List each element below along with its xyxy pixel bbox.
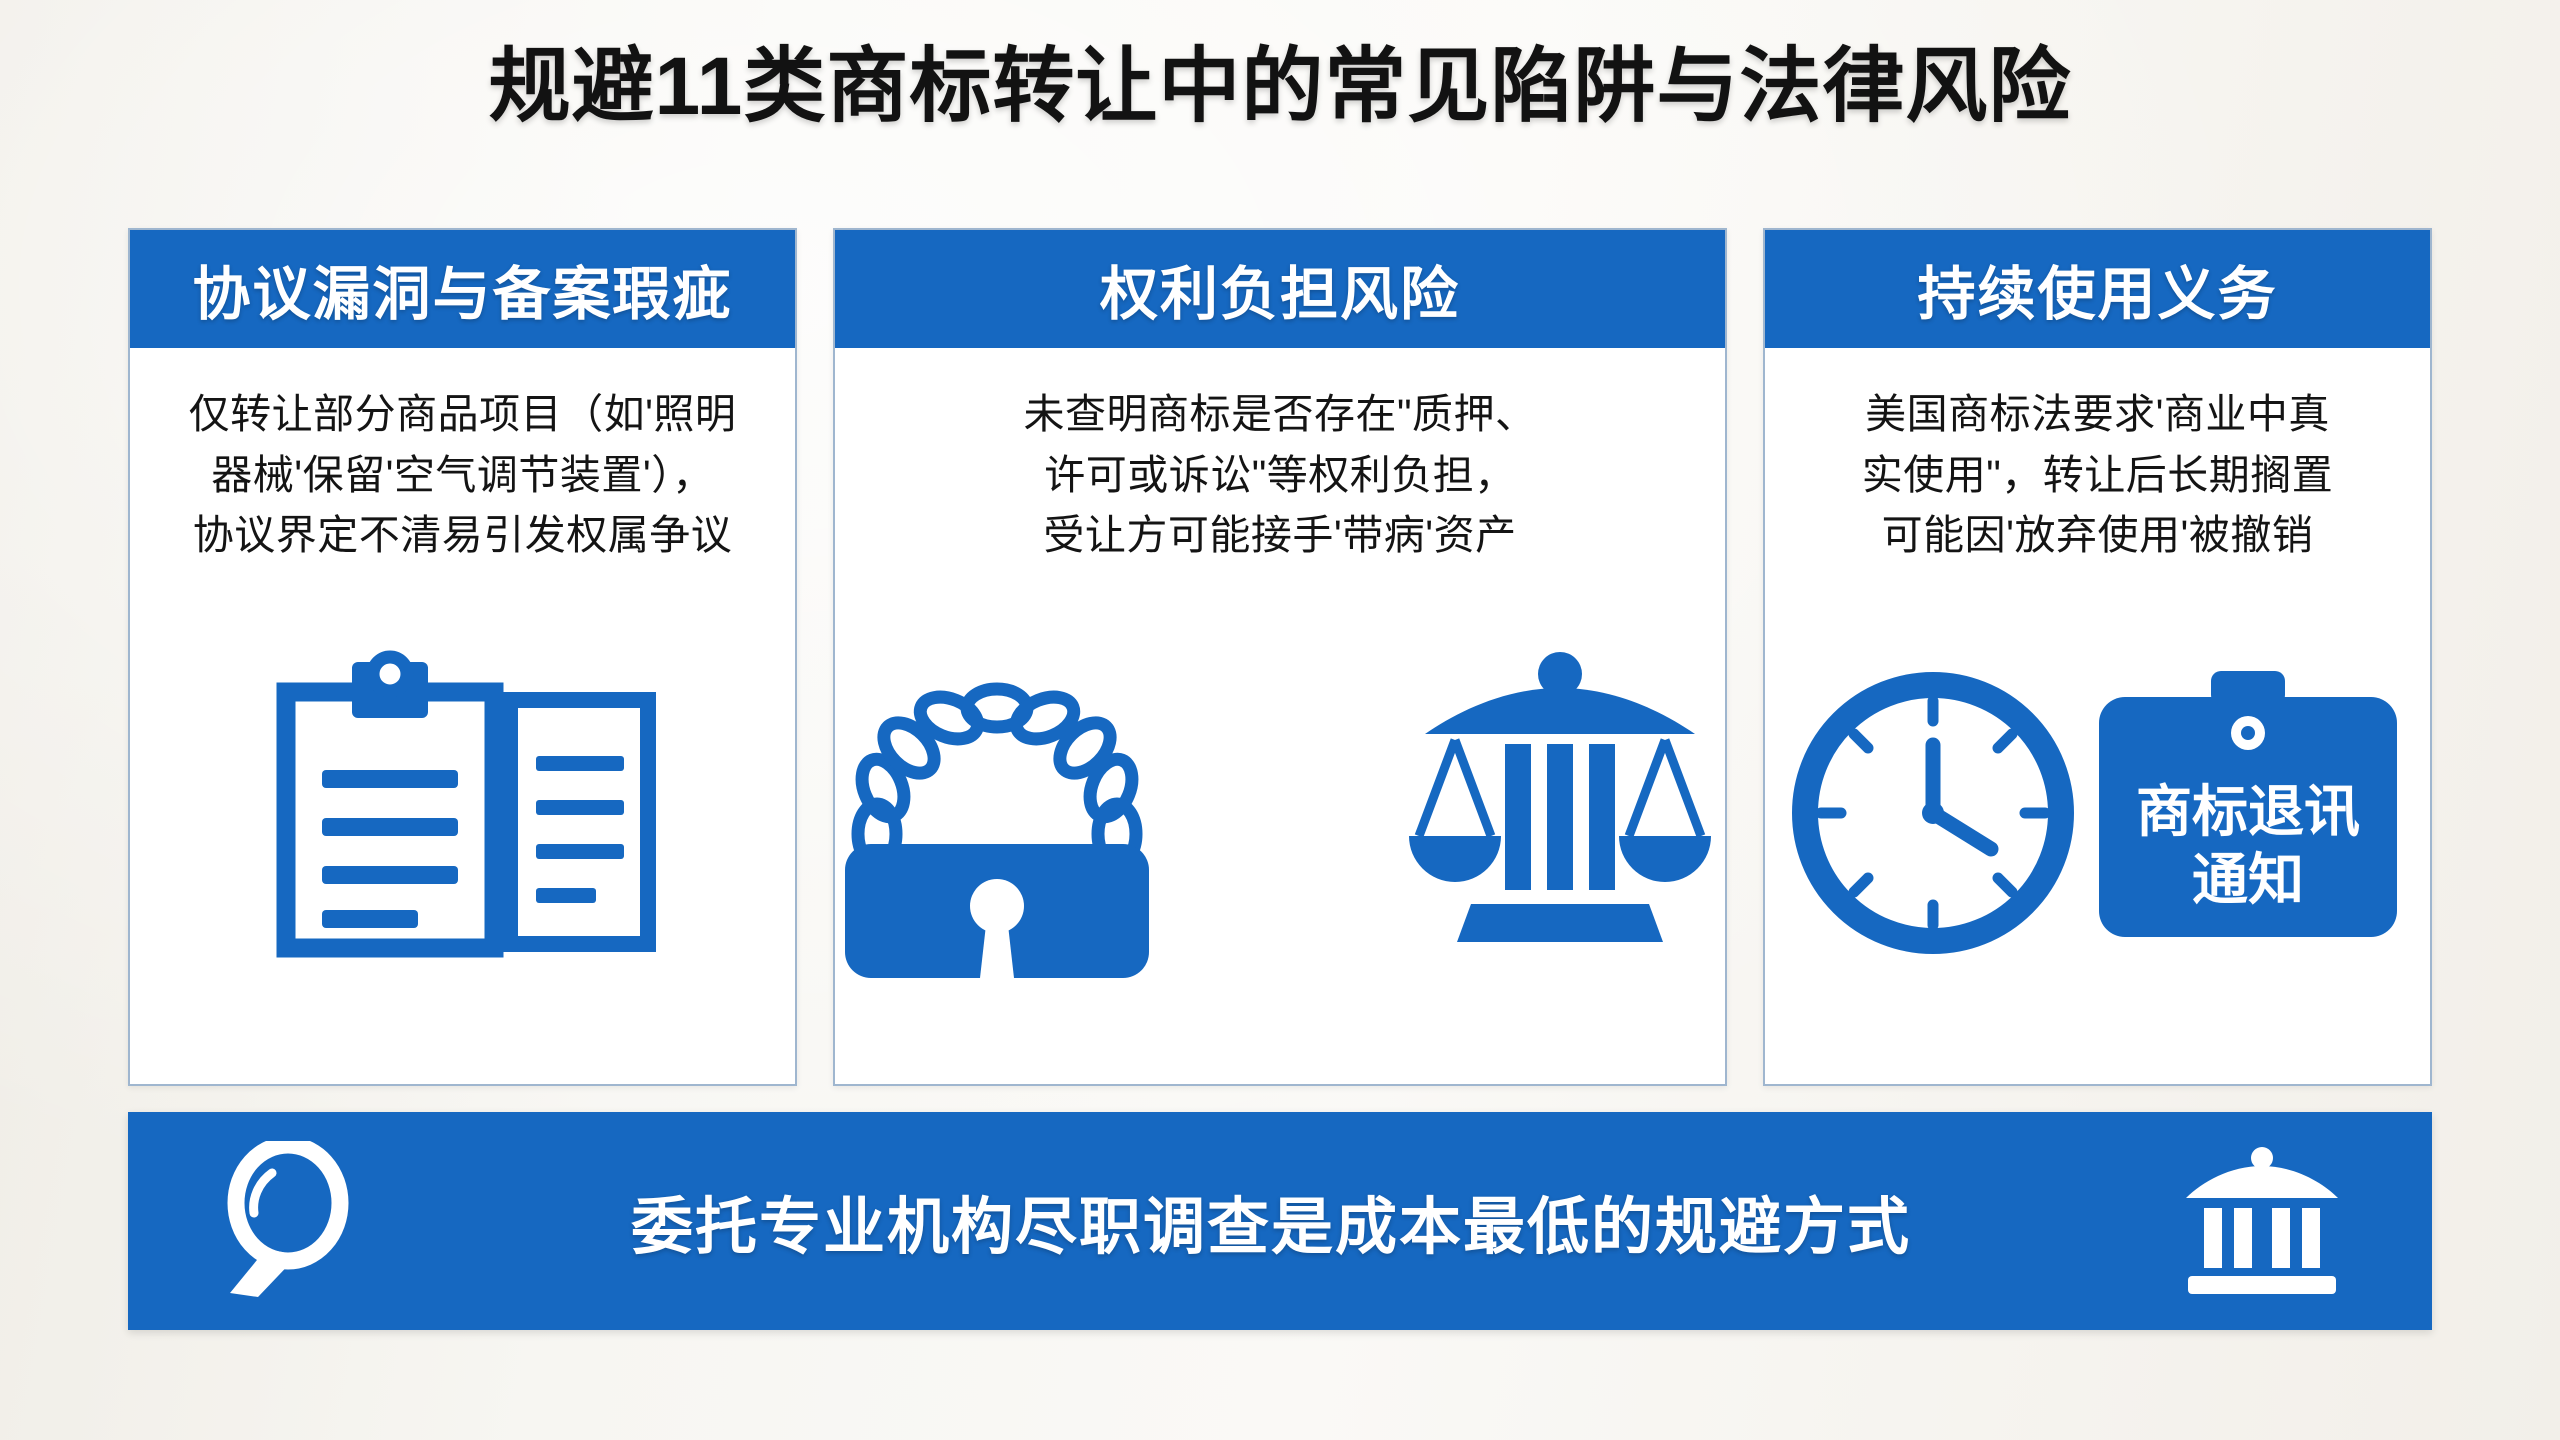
bank-institution-icon-wrap: [2178, 1146, 2346, 1296]
risk-card-agreement-gaps[interactable]: 协议漏洞与备案瑕疵 仅转让部分商品项目（如'照明 器械'保留'空气调节装置'），…: [128, 228, 797, 1086]
clipboard-icon: [248, 648, 678, 978]
risk-card-use-obligation[interactable]: 持续使用义务 美国商标法要求'商业中真 实使用"，转让后长期搁置 可能因'放弃使…: [1763, 228, 2432, 1086]
card-body-line: 受让方可能接手'带病'资产: [869, 505, 1691, 566]
card-header-3: 持续使用义务: [1765, 230, 2430, 348]
card-body-line: 可能因'放弃使用'被撤销: [1799, 505, 2396, 566]
card-body-line: 实使用"，转让后长期搁置: [1799, 445, 2396, 506]
conclusion-banner-text: 委托专业机构尽职调查是成本最低的规避方式: [364, 1176, 2178, 1266]
page-title: 规避11类商标转让中的常见陷阱与法律风险: [489, 46, 2072, 128]
card-icon-group-3: 商标退讯 通知: [1765, 572, 2430, 1084]
card-body-line: 器械'保留'空气调节装置'），: [164, 445, 761, 506]
risk-card-encumbrance[interactable]: 权利负担风险 未查明商标是否存在"质押、 许可或诉讼"等权利负担， 受让方可能接…: [833, 228, 1727, 1086]
badge-line-1: 商标退讯: [2136, 780, 2360, 843]
risk-card-list: 协议漏洞与备案瑕疵 仅转让部分商品项目（如'照明 器械'保留'空气调节装置'），…: [128, 228, 2432, 1086]
chained-padlock-icon: [835, 648, 1395, 978]
card-body-line: 未查明商标是否存在"质押、: [869, 384, 1691, 445]
conclusion-banner: 委托专业机构尽职调查是成本最低的规避方式: [128, 1112, 2432, 1330]
card-body-2: 未查明商标是否存在"质押、 许可或诉讼"等权利负担， 受让方可能接手'带病'资产: [835, 348, 1725, 572]
card-icon-group-1: [130, 572, 795, 1084]
badge-line-2: 通知: [2192, 848, 2304, 911]
magnifier-icon: [214, 1141, 364, 1301]
card-body-3: 美国商标法要求'商业中真 实使用"，转让后长期搁置 可能因'放弃使用'被撤销: [1765, 348, 2430, 572]
infographic-stage: 规避11类商标转让中的常见陷阱与法律风险 协议漏洞与备案瑕疵 仅转让部分商品项目…: [0, 0, 2560, 1440]
page-title-container: 规避11类商标转让中的常见陷阱与法律风险: [0, 46, 2560, 128]
card-title-1: 协议漏洞与备案瑕疵: [192, 247, 732, 331]
card-body-line: 美国商标法要求'商业中真: [1799, 384, 2396, 445]
card-header-2: 权利负担风险: [835, 230, 1725, 348]
card-header-1: 协议漏洞与备案瑕疵: [130, 230, 795, 348]
justice-scales-icon: [1395, 648, 1725, 978]
card-body-line: 许可或诉讼"等权利负担，: [869, 445, 1691, 506]
padlock-body: [845, 844, 1149, 978]
bank-institution-icon: [2178, 1146, 2346, 1296]
card-body-line: 仅转让部分商品项目（如'照明: [164, 384, 761, 445]
card-title-3: 持续使用义务: [1917, 247, 2277, 331]
card-body-1: 仅转让部分商品项目（如'照明 器械'保留'空气调节装置'）， 协议界定不清易引发…: [130, 348, 795, 572]
card-icon-group-2: [835, 572, 1725, 1084]
card-title-2: 权利负担风险: [1100, 247, 1460, 331]
card-body-line: 协议界定不清易引发权属争议: [164, 505, 761, 566]
revocation-notice-badge-icon: 商标退讯 通知: [2083, 663, 2413, 963]
magnifier-icon-wrap: [214, 1141, 364, 1301]
clock-icon: [1783, 663, 2083, 963]
